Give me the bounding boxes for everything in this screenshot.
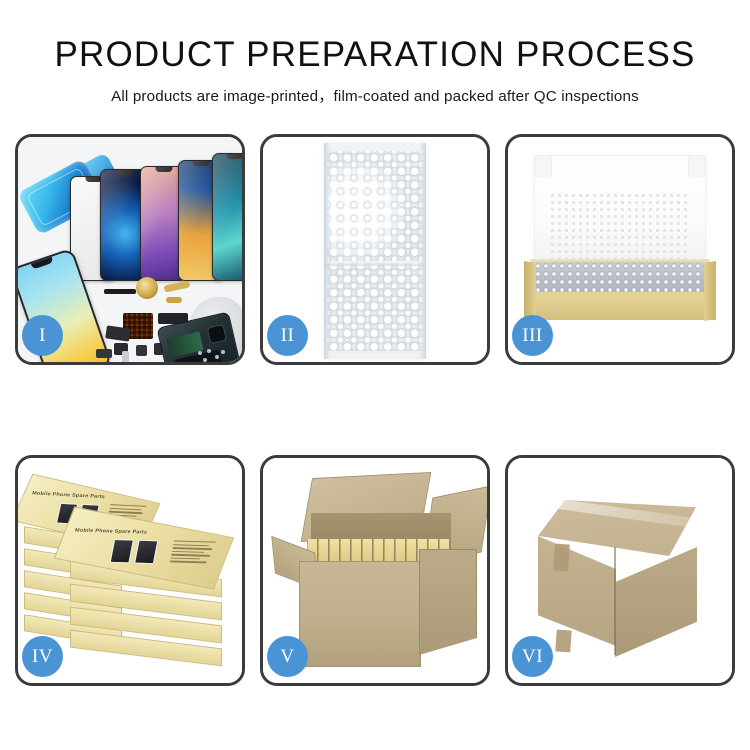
step-card-5: V (260, 455, 490, 686)
pouch-edge-right (419, 143, 426, 359)
step-panel-border-2: II (260, 134, 490, 365)
flex-cable-part-icon (104, 289, 136, 294)
bracket-part-icon (96, 349, 112, 358)
carton-right-face (615, 547, 697, 657)
carton-front-face (299, 561, 421, 667)
bubble-wrap-pouch-icon (324, 143, 426, 359)
sealed-carton-icon (530, 500, 716, 659)
carton-tape-top (553, 544, 570, 572)
mailer-box-icon (524, 155, 716, 320)
step-panel-border-4: Mobile Phone Spare Parts Mobile Phone Sp… (15, 455, 245, 686)
button-part-icon (136, 345, 147, 356)
step-card-3: III (505, 134, 735, 365)
page-subtitle: All products are image-printed，film-coat… (0, 84, 750, 106)
open-carton-icon (277, 492, 475, 667)
bubble-texture-offset (327, 151, 423, 351)
step-badge-2: II (267, 315, 308, 356)
retail-box-brand-text: Mobile Phone Spare Parts (74, 528, 147, 536)
box-spec-lines (169, 540, 216, 565)
step-badge-5: V (267, 636, 308, 677)
step-badge-6: VI (512, 636, 553, 677)
carton-tape-bottom (555, 630, 571, 653)
step-badge-1: I (22, 315, 63, 356)
step-card-1: I (15, 134, 245, 365)
header: PRODUCT PREPARATION PROCESS All products… (0, 0, 750, 106)
page-title: PRODUCT PREPARATION PROCESS (0, 36, 750, 73)
foam-lid-icon (534, 155, 706, 275)
product-preparation-infographic: PRODUCT PREPARATION PROCESS All products… (0, 0, 750, 750)
step-panel-border-3: III (505, 134, 735, 365)
step-panel-border-5: V (260, 455, 490, 686)
box-art-screen (134, 540, 159, 564)
box-lip-left (524, 261, 536, 321)
carton-vertical-edge (614, 547, 616, 655)
step-card-6: VI (505, 455, 735, 686)
step-card-2: II (260, 134, 490, 365)
screws-icon (198, 349, 228, 362)
step-badge-3: III (512, 315, 553, 356)
step-badge-4: IV (22, 636, 63, 677)
carton-left-face (538, 536, 616, 646)
pouch-seam (326, 261, 424, 266)
steps-grid: I II (0, 134, 750, 686)
phone-teal-icon (212, 153, 242, 281)
phone-lineup (70, 151, 242, 281)
gold-clip-part-icon (166, 297, 182, 303)
retail-box-brand-text: Mobile Phone Spare Parts (31, 491, 105, 500)
step-panel-border-6: VI (505, 455, 735, 686)
speaker-ring-part-icon (136, 277, 158, 299)
box-art-screen (110, 539, 135, 563)
box-lip-right (704, 261, 716, 321)
bubble-wrapped-contents (534, 262, 706, 292)
sim-tray-part-icon (122, 351, 129, 362)
step-panel-border-1: I (15, 134, 245, 365)
carton-right-face (419, 549, 477, 655)
step-card-4: Mobile Phone Spare Parts Mobile Phone Sp… (15, 455, 245, 686)
pouch-edge-left (324, 143, 331, 359)
